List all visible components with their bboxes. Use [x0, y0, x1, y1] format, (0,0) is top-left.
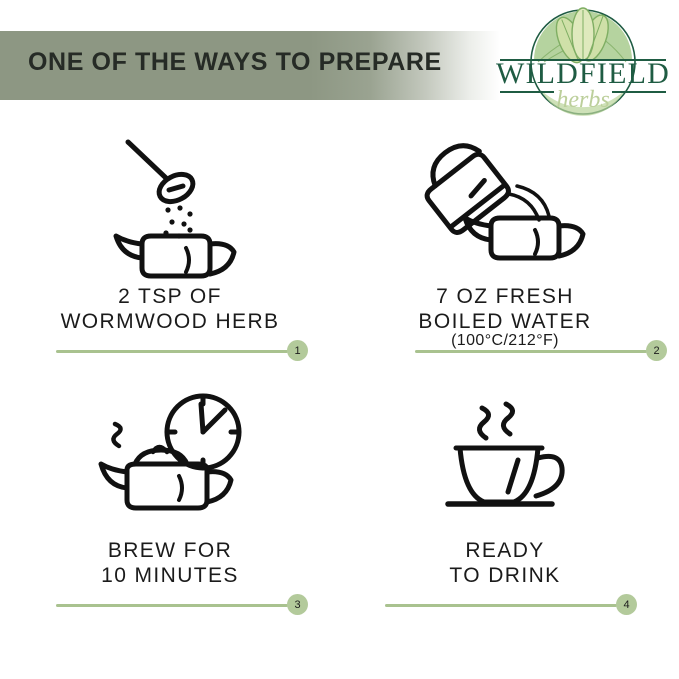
- kettle-pouring-water-into-teapot-icon: [405, 132, 605, 282]
- steps-grid: 2 TSP OF WORMWOOD HERB 1: [0, 132, 679, 647]
- step-3-progress-line: [56, 604, 288, 607]
- step-3-progress: 3: [56, 594, 316, 616]
- logo-svg: WILDFIELD herbs: [494, 4, 672, 122]
- step-1-caption: 2 TSP OF WORMWOOD HERB: [10, 284, 330, 334]
- step-3-number-badge: 3: [287, 594, 308, 615]
- brand-logo: WILDFIELD herbs: [494, 4, 672, 122]
- step-1-progress-line: [56, 350, 288, 353]
- steam-right: [503, 404, 512, 434]
- step-1-number-badge: 1: [287, 340, 308, 361]
- logo-script-text: herbs: [556, 87, 609, 113]
- step-4-icon-wrap: [345, 386, 665, 536]
- step-card-4: READY TO DRINK 4: [345, 386, 665, 634]
- step-2-progress-line: [415, 350, 647, 353]
- step-2-caption: 7 OZ FRESH BOILED WATER: [345, 284, 665, 334]
- step-2-progress: 2: [415, 340, 675, 362]
- step-4-progress-line: [385, 604, 617, 607]
- page-title: ONE OF THE WAYS TO PREPARE: [28, 48, 442, 77]
- teapot-with-clock-icon: [75, 386, 265, 536]
- step-1-progress: 1: [56, 340, 316, 362]
- spoon-pouring-herbs-into-teapot-icon: [80, 132, 260, 282]
- page-header: ONE OF THE WAYS TO PREPARE: [0, 0, 679, 130]
- steaming-teacup-icon: [420, 386, 590, 536]
- step-card-2: 7 OZ FRESH BOILED WATER (100°C/212°F) 2: [345, 132, 665, 380]
- logo-brand-text: WILDFIELD: [496, 57, 670, 90]
- step-4-number-badge: 4: [616, 594, 637, 615]
- step-card-1: 2 TSP OF WORMWOOD HERB 1: [10, 132, 330, 380]
- step-2-icon-wrap: [345, 132, 665, 282]
- step-3-caption: BREW FOR 10 MINUTES: [10, 538, 330, 588]
- step-3-icon-wrap: [10, 386, 330, 536]
- step-1-icon-wrap: [10, 132, 330, 282]
- step-card-3: BREW FOR 10 MINUTES 3: [10, 386, 330, 634]
- step-4-progress: 4: [385, 594, 645, 616]
- step-4-caption: READY TO DRINK: [345, 538, 665, 588]
- steam-left: [479, 408, 488, 438]
- step-2-number-badge: 2: [646, 340, 667, 361]
